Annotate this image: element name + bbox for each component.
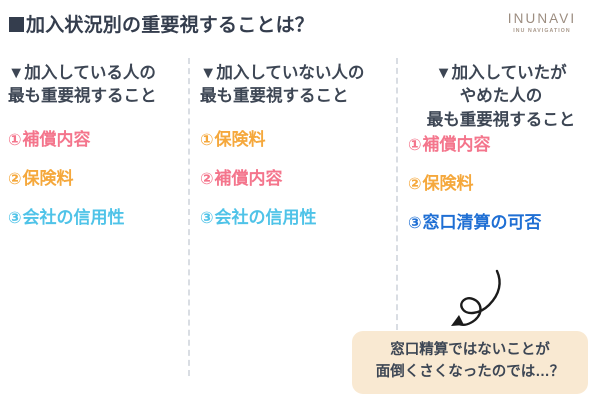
rank-label: 補償内容	[423, 135, 491, 154]
column-heading: ▼加入している人の 最も重要視すること	[8, 62, 184, 109]
rank-number: ③	[408, 215, 422, 232]
rank-label: 保険料	[215, 130, 266, 149]
column-heading-line: 最も重要視すること	[200, 85, 390, 108]
ranking-list: ①補償内容 ②保険料 ③会社の信用性	[8, 131, 184, 227]
rank-label: 補償内容	[23, 130, 91, 149]
column-heading-line: 最も重要視すること	[8, 85, 184, 108]
rank-number: ②	[200, 171, 214, 188]
list-item: ①補償内容	[408, 136, 594, 154]
rank-number: ③	[200, 210, 214, 227]
ranking-list: ①補償内容 ②保険料 ③窓口清算の可否	[408, 136, 594, 232]
column-heading-line: ▼加入していたが	[408, 62, 594, 85]
column-heading-line: ▼加入していない人の	[200, 62, 390, 85]
column-enrolled: ▼加入している人の 最も重要視すること ①補償内容 ②保険料 ③会社の信用性	[8, 62, 184, 248]
list-item: ③窓口清算の可否	[408, 214, 594, 232]
rank-label: 補償内容	[215, 169, 283, 188]
rank-number: ②	[408, 176, 422, 193]
list-item: ②保険料	[408, 175, 594, 193]
column-heading: ▼加入していたが やめた人の 最も重要視すること	[408, 62, 594, 132]
list-item: ③会社の信用性	[8, 209, 184, 227]
column-heading: ▼加入していない人の 最も重要視すること	[200, 62, 390, 109]
callout-line: 面倒くさくなったのでは…？	[358, 362, 582, 384]
list-item: ③会社の信用性	[200, 209, 390, 227]
infographic-canvas: 加入状況別の重要視することは？ INUNAVI INU NAVIGATION ▼…	[0, 0, 600, 400]
rank-number: ①	[8, 132, 22, 149]
rank-label: 保険料	[23, 169, 74, 188]
column-heading-line: 最も重要視すること	[408, 109, 594, 132]
rank-number: ①	[408, 137, 422, 154]
rank-label: 会社の信用性	[215, 208, 317, 227]
logo-tagline: INU NAVIGATION	[494, 29, 590, 34]
curved-loop-arrow-icon	[440, 268, 512, 330]
column-quit: ▼加入していたが やめた人の 最も重要視すること ①補償内容 ②保険料 ③窓口清…	[408, 62, 594, 253]
rank-label: 窓口清算の可否	[423, 213, 542, 232]
list-item: ②保険料	[8, 170, 184, 188]
rank-number: ①	[200, 132, 214, 149]
callout-bubble: 窓口精算ではないことが 面倒くさくなったのでは…？	[352, 331, 588, 394]
list-item: ①補償内容	[8, 131, 184, 149]
callout-line: 窓口精算ではないことが	[358, 340, 582, 362]
square-bullet-icon	[9, 17, 24, 32]
ranking-list: ①保険料 ②補償内容 ③会社の信用性	[200, 131, 390, 227]
page-title: 加入状況別の重要視することは？	[9, 10, 314, 37]
list-item: ②補償内容	[200, 170, 390, 188]
page-title-text: 加入状況別の重要視することは？	[26, 15, 314, 36]
column-divider-1	[188, 58, 190, 376]
rank-number: ③	[8, 210, 22, 227]
rank-label: 会社の信用性	[23, 208, 125, 227]
column-divider-2	[396, 58, 398, 330]
rank-number: ②	[8, 171, 22, 188]
brand-logo: INUNAVI INU NAVIGATION	[494, 12, 590, 34]
column-not-enrolled: ▼加入していない人の 最も重要視すること ①保険料 ②補償内容 ③会社の信用性	[200, 62, 390, 248]
list-item: ①保険料	[200, 131, 390, 149]
rank-label: 保険料	[423, 174, 474, 193]
logo-wordmark: INUNAVI	[494, 12, 590, 26]
column-heading-line: やめた人の	[408, 85, 594, 108]
column-heading-line: ▼加入している人の	[8, 62, 184, 85]
